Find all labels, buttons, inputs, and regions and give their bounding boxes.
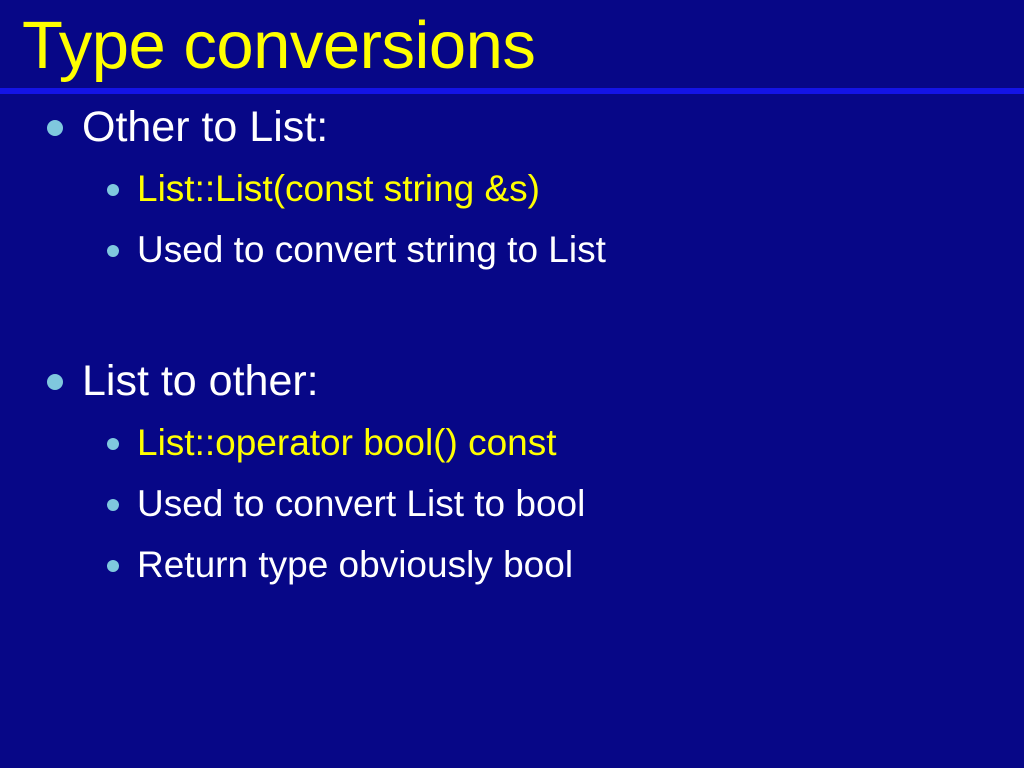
bullet-dot-icon bbox=[107, 245, 119, 257]
page-title: Type conversions bbox=[22, 6, 1002, 86]
bullet-dot-icon bbox=[107, 560, 119, 572]
bullet-dot-icon bbox=[47, 374, 63, 390]
list-item: List to other: bbox=[0, 350, 1024, 412]
list-item: Other to List: bbox=[0, 96, 1024, 158]
list-item: List::List(const string &s) bbox=[0, 158, 1024, 219]
list-item-label: Other to List: bbox=[82, 96, 328, 158]
list-item-label: Used to convert List to bool bbox=[137, 473, 585, 534]
list-item-label: List to other: bbox=[82, 350, 319, 412]
bullet-dot-icon bbox=[107, 438, 119, 450]
list-item: Return type obviously bool bbox=[0, 534, 1024, 595]
list-item: Used to convert List to bool bbox=[0, 473, 1024, 534]
title-divider bbox=[0, 88, 1024, 94]
presentation-slide: Type conversions Other to List: List::Li… bbox=[0, 0, 1024, 768]
list-item: List::operator bool() const bbox=[0, 412, 1024, 473]
list-item: Used to convert string to List bbox=[0, 219, 1024, 280]
bullet-dot-icon bbox=[107, 499, 119, 511]
list-item-label: List::operator bool() const bbox=[137, 412, 557, 473]
bullet-dot-icon bbox=[47, 120, 63, 136]
list-spacer bbox=[0, 280, 1024, 350]
bullet-dot-icon bbox=[107, 184, 119, 196]
list-item-label: Used to convert string to List bbox=[137, 219, 606, 280]
slide-body-list: Other to List: List::List(const string &… bbox=[0, 96, 1024, 595]
list-item-label: List::List(const string &s) bbox=[137, 158, 540, 219]
list-item-label: Return type obviously bool bbox=[137, 534, 573, 595]
